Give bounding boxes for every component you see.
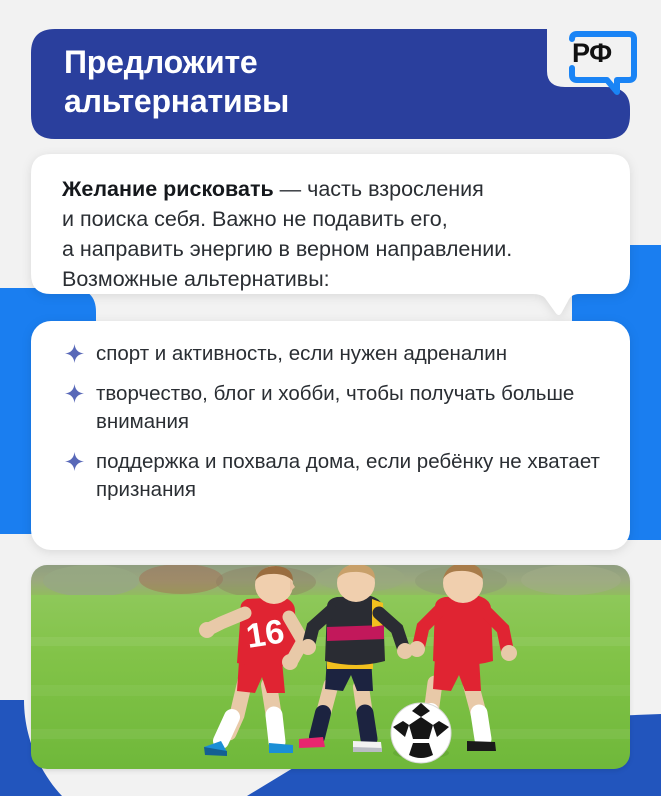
list-item-label: творчество, блог и хобби, чтобы получать… xyxy=(96,382,574,433)
soccer-ball xyxy=(391,703,451,763)
alternatives-list: спорт и активность, если нужен адреналин… xyxy=(65,340,613,504)
header-banner: Предложите альтернативы xyxy=(31,29,630,139)
svg-text:16: 16 xyxy=(244,612,287,655)
alternatives-card: спорт и активность, если нужен адреналин… xyxy=(31,321,630,550)
page-title: Предложите альтернативы xyxy=(64,43,544,121)
list-item: творчество, блог и хобби, чтобы получать… xyxy=(65,380,613,436)
logo-rf: РФ xyxy=(565,27,641,99)
list-item: поддержка и похвала дома, если ребёнку н… xyxy=(65,448,613,504)
intro-card: Желание рисковать — часть взросления и п… xyxy=(31,154,630,315)
list-item-label: поддержка и похвала дома, если ребёнку н… xyxy=(96,450,600,501)
left-upper-accent-shape xyxy=(0,170,18,210)
sparkle-icon xyxy=(65,384,84,403)
sparkle-icon xyxy=(65,344,84,363)
intro-lead: Желание рисковать xyxy=(62,177,274,201)
intro-text: Желание рисковать — часть взросления и п… xyxy=(62,174,607,294)
sparkle-icon xyxy=(65,452,84,471)
photo-soccer-kids: 16 xyxy=(31,565,630,769)
logo-text: РФ xyxy=(572,40,612,67)
infographic-card: Предложите альтернативы РФ Желание риско… xyxy=(0,0,661,796)
list-item-label: спорт и активность, если нужен адреналин xyxy=(96,342,507,365)
list-item: спорт и активность, если нужен адреналин xyxy=(65,340,613,368)
